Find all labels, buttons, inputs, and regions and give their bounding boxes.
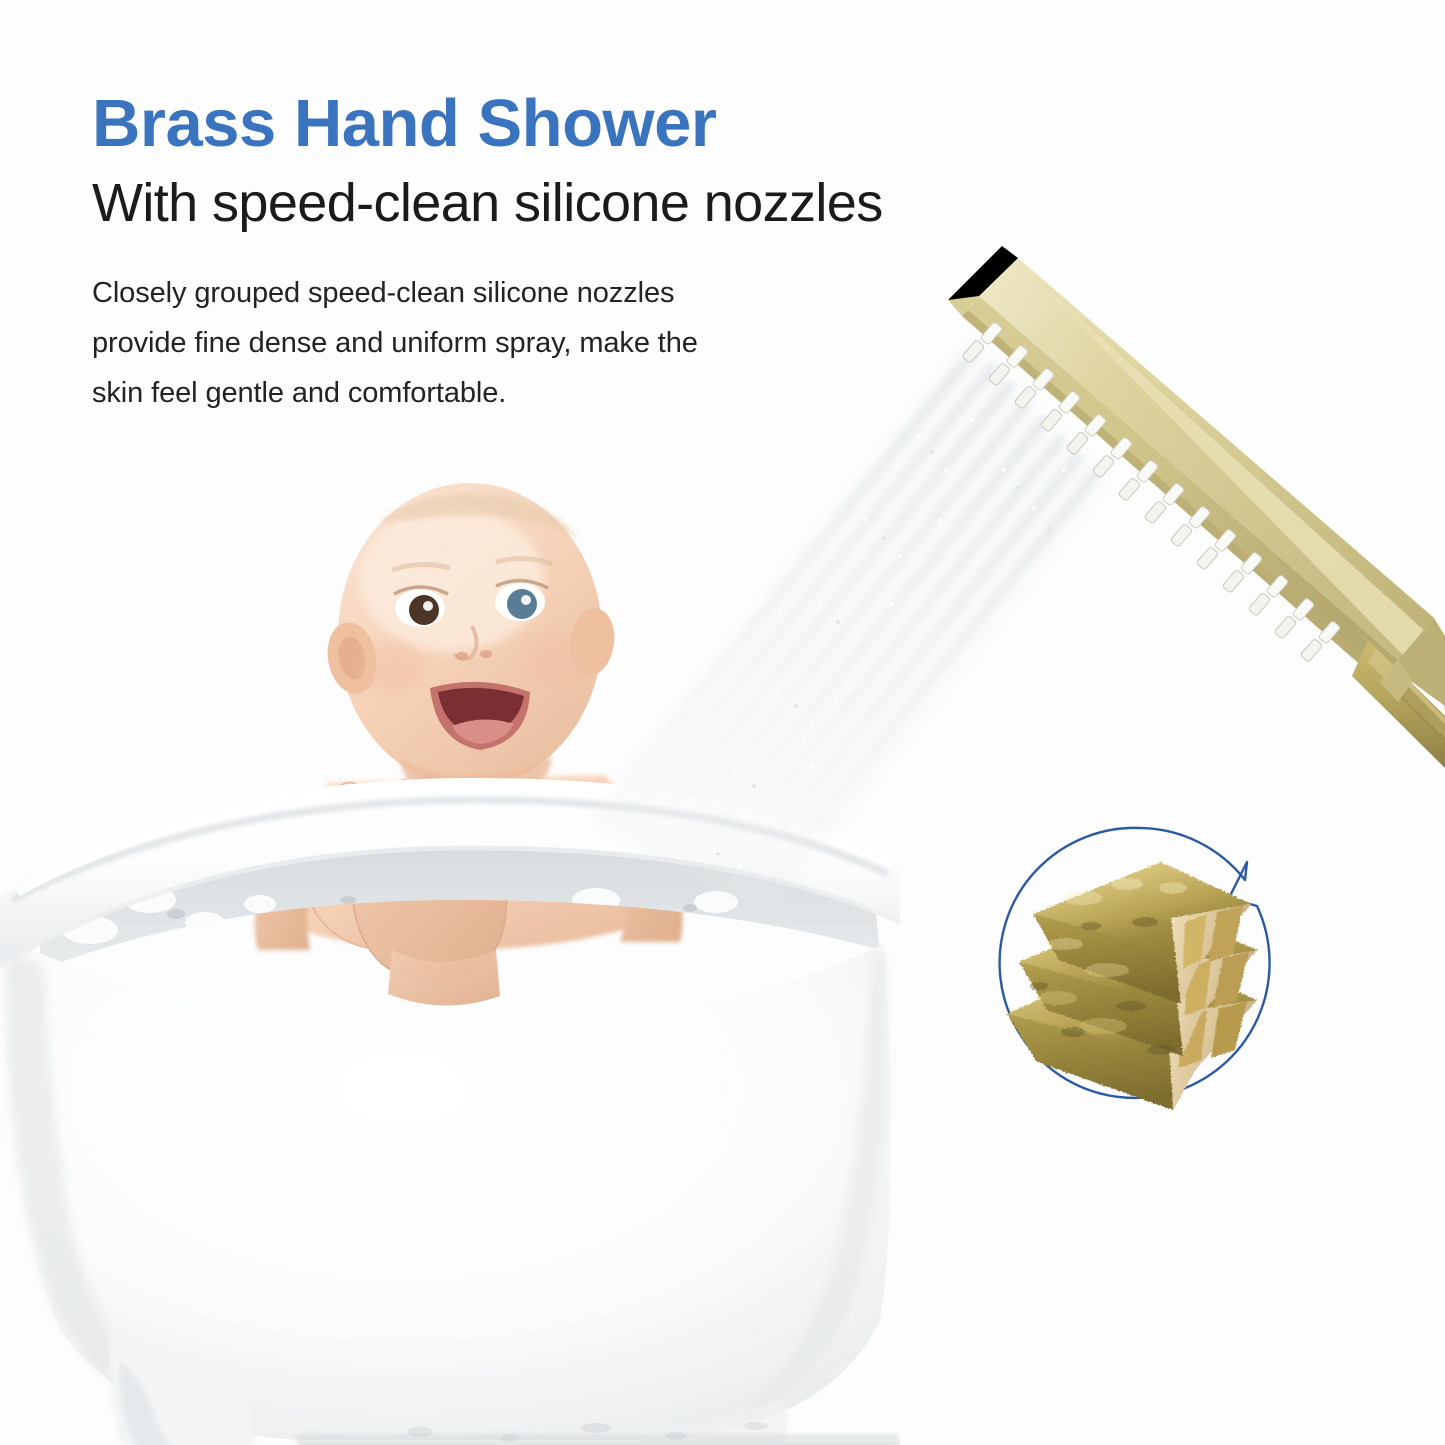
body-line: skin feel gentle and comfortable. [92,369,1102,419]
body-copy: Closely grouped speed-clean silicone noz… [92,269,1102,419]
text-block: Brass Hand Shower With speed-clean silic… [92,88,1102,419]
body-line: Closely grouped speed-clean silicone noz… [92,269,1102,319]
page-title: Brass Hand Shower [92,88,1102,159]
brass-ingots [1007,862,1257,1110]
product-marketing-banner: Brass Hand Shower With speed-clean silic… [0,0,1445,1445]
baby-figure [255,483,683,1006]
photo-svg [0,430,900,1445]
page-subtitle: With speed-clean silicone nozzles [92,173,1102,233]
hose-connector [1352,640,1445,768]
body-line: provide fine dense and uniform spray, ma… [92,319,1102,369]
brass-material-callout [995,818,1285,1133]
bathtub-baby-photo [0,430,900,1445]
bathtub [0,778,900,1445]
callout-svg [995,818,1285,1133]
